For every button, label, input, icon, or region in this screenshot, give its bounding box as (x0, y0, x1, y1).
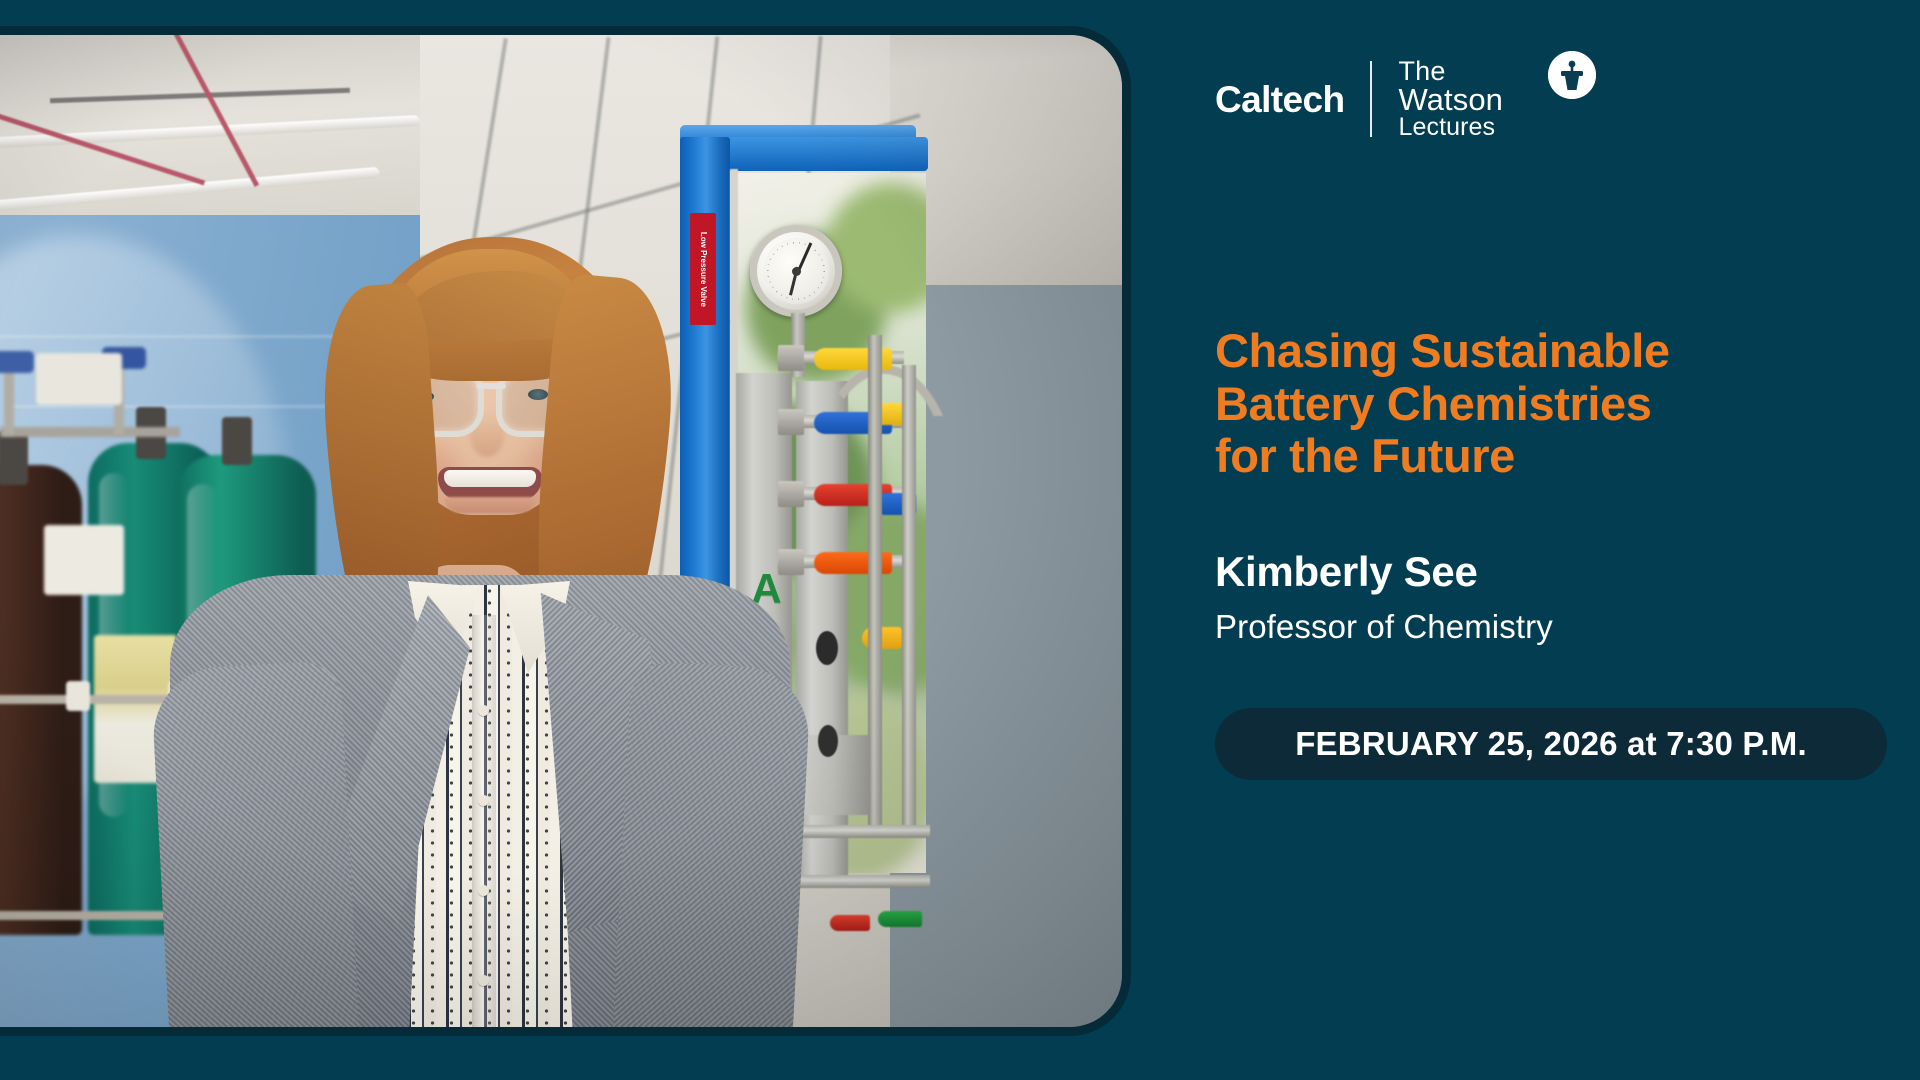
vertical-pipe (902, 365, 916, 835)
shirt-button (478, 885, 489, 896)
shirt-button (478, 975, 489, 986)
watson-lectures-wordmark: The Watson Lectures (1372, 59, 1503, 139)
title-line-3: for the Future (1215, 430, 1835, 483)
poster-content-column: Caltech The Watson Lectures Chasi (1215, 0, 1855, 1080)
caltech-wordmark: Caltech (1215, 81, 1370, 118)
arm-left (150, 660, 360, 1027)
chain-bracket (66, 681, 90, 711)
regulator-knob (0, 351, 34, 373)
speaker-role: Professor of Chemistry (1215, 608, 1553, 646)
pipe-cap (818, 725, 838, 757)
speaker-portrait-photo: Low Pressure Valve EMERGENCY (0, 35, 1122, 1027)
lower-lip (444, 497, 536, 513)
shirt-placket (472, 615, 496, 1027)
event-poster: Low Pressure Valve EMERGENCY (0, 0, 1920, 1080)
regulator-manifold (0, 427, 180, 437)
pipe-cap (816, 631, 838, 665)
shirt-button (478, 795, 489, 806)
page-title: Chasing Sustainable Battery Chemistries … (1215, 325, 1835, 483)
arm-right (612, 661, 812, 1027)
regulator-gauge-plate (44, 525, 124, 595)
person-figure (170, 145, 790, 1027)
caltech-watson-logo[interactable]: Caltech The Watson Lectures (1215, 56, 1503, 142)
regulator-plate (36, 353, 122, 405)
shirt-button (478, 705, 489, 716)
gauge-hub (792, 267, 801, 276)
watson-line-lectures: Lectures (1398, 115, 1503, 139)
lower-pipe (780, 875, 930, 888)
cylinder-neck (0, 431, 28, 485)
glasses-bridge (476, 383, 506, 389)
event-date-text: FEBRUARY 25, 2026 at 7:30 P.M. (1295, 725, 1807, 763)
title-line-1: Chasing Sustainable (1215, 325, 1835, 378)
watson-line-watson: Watson (1398, 85, 1503, 115)
vertical-pipe (868, 335, 882, 835)
teeth (444, 470, 536, 487)
title-line-2: Battery Chemistries (1215, 378, 1835, 431)
photo-inner: Low Pressure Valve EMERGENCY (0, 35, 1122, 1027)
mouth (438, 467, 542, 501)
regulator-stem (4, 365, 14, 435)
speaker-name: Kimberly See (1215, 548, 1478, 596)
valve-handle-red-lower (830, 915, 870, 931)
podium-icon (1548, 51, 1596, 99)
valve-handle-green-lower (878, 911, 922, 927)
event-date-badge[interactable]: FEBRUARY 25, 2026 at 7:30 P.M. (1215, 708, 1887, 780)
